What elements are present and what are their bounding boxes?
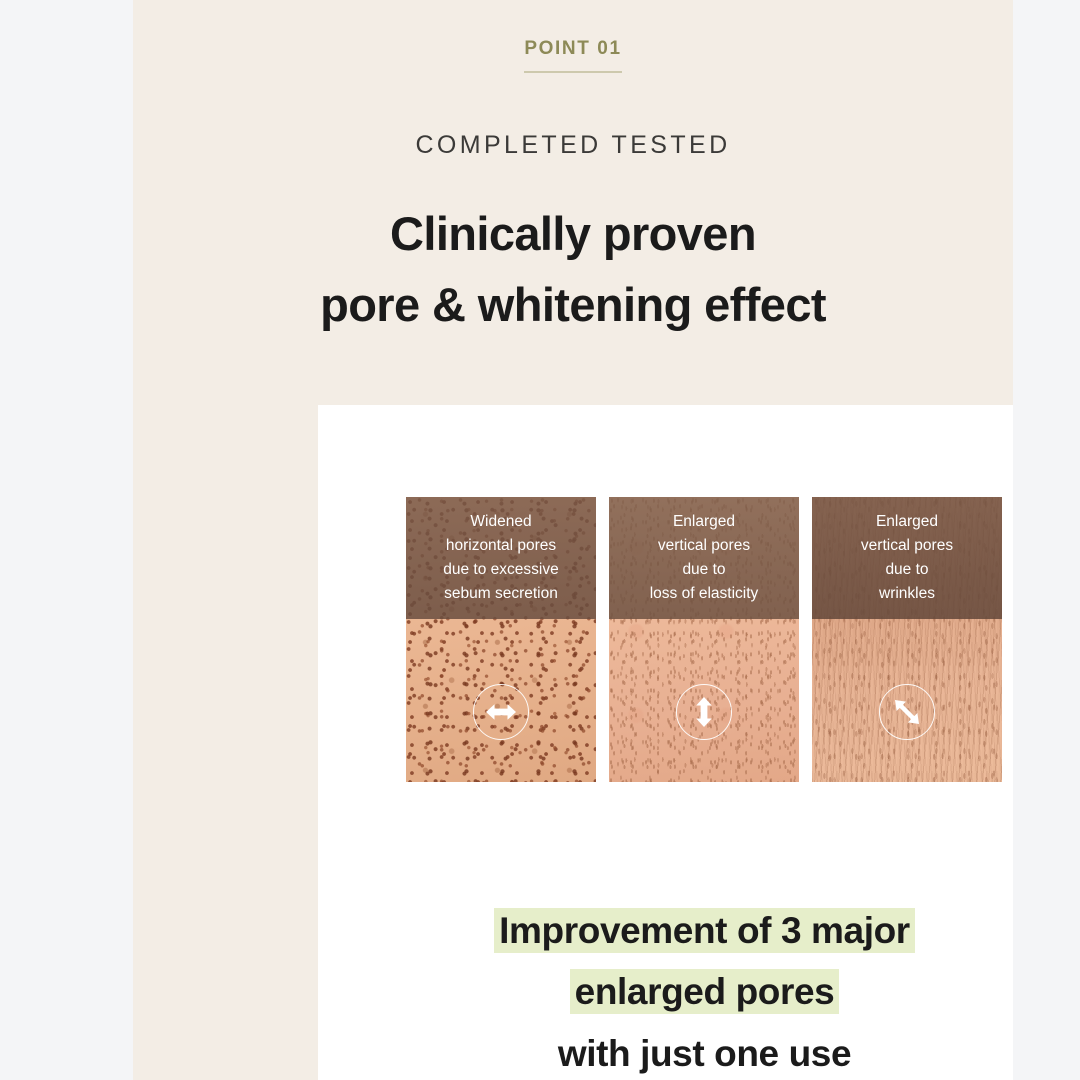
skin-panel: Enlarged vertical pores due to wrinkles — [812, 497, 1002, 782]
headline-line-1: Clinically proven — [390, 207, 756, 260]
caption-line: due to — [885, 561, 928, 578]
content-card: Widened horizontal pores due to excessiv… — [318, 405, 1013, 1080]
panel-caption: Widened horizontal pores due to excessiv… — [406, 497, 596, 619]
panel-caption: Enlarged vertical pores due to loss of e… — [609, 497, 799, 619]
closing-line-3: with just one use — [318, 1023, 1013, 1080]
subheading: COMPLETED TESTED — [133, 131, 1013, 160]
vertical-double-arrow-icon — [676, 684, 732, 740]
caption-line: loss of elasticity — [650, 585, 759, 602]
point-label: POINT 01 — [524, 38, 621, 73]
page-title: Clinically proven pore & whitening effec… — [133, 199, 1013, 340]
panel-caption: Enlarged vertical pores due to wrinkles — [812, 497, 1002, 619]
closing-line-1: Improvement of 3 major — [318, 900, 1013, 961]
skin-panel: Enlarged vertical pores due to loss of e… — [609, 497, 799, 782]
skin-panel-row: Widened horizontal pores due to excessiv… — [406, 497, 1002, 782]
page-column: POINT 01 COMPLETED TESTED Clinically pro… — [133, 0, 1013, 1080]
caption-line: horizontal pores — [446, 537, 556, 554]
closing-line-2: enlarged pores — [318, 961, 1013, 1022]
caption-line: Enlarged — [673, 513, 735, 530]
caption-line: due to — [682, 561, 725, 578]
caption-line: wrinkles — [879, 585, 935, 602]
caption-line: Enlarged — [876, 513, 938, 530]
closing-statement: Improvement of 3 major enlarged pores wi… — [318, 900, 1013, 1080]
skin-panel: Widened horizontal pores due to excessiv… — [406, 497, 596, 782]
caption-line: sebum secretion — [444, 585, 558, 602]
horizontal-double-arrow-icon — [473, 684, 529, 740]
eyebrow-container: POINT 01 — [133, 38, 1013, 73]
diagonal-double-arrow-icon — [879, 684, 935, 740]
caption-line: Widened — [470, 513, 531, 530]
caption-line: vertical pores — [861, 537, 953, 554]
caption-line: due to excessive — [443, 561, 558, 578]
caption-line: vertical pores — [658, 537, 750, 554]
headline-line-2: pore & whitening effect — [320, 278, 826, 331]
